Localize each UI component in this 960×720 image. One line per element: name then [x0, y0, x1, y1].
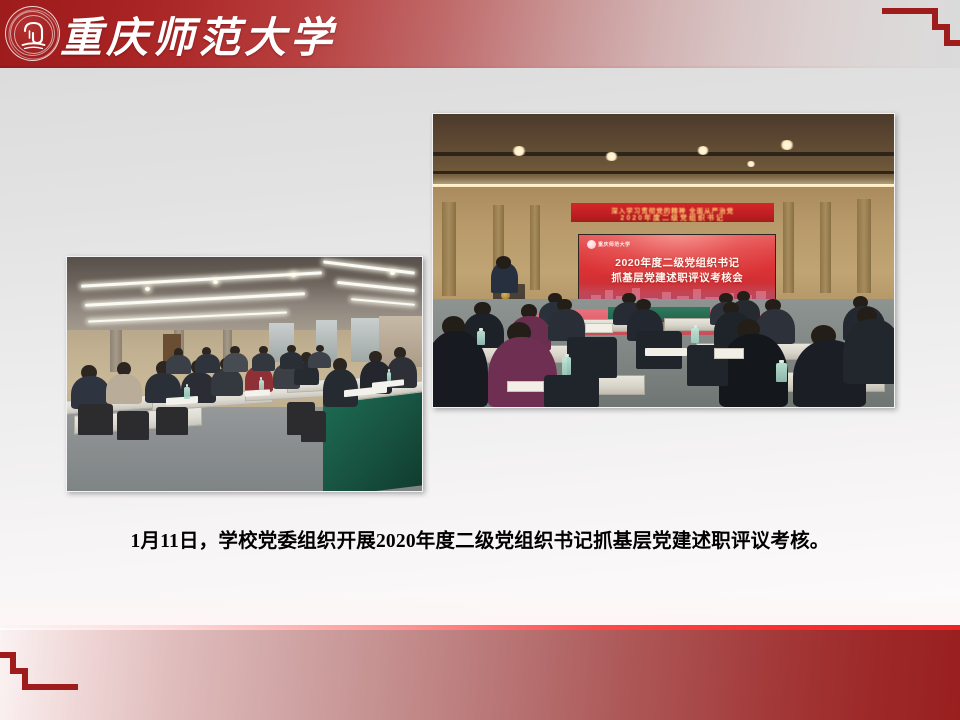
hall-banner-text-secondary: 2020年度二级党组织书记 [571, 213, 774, 222]
conference-hall-led-screen-photo: 深入学习贯彻党的精神 全面从严治党 2020年度二级党组织书记 重庆师范大学 2… [432, 113, 895, 408]
meeting-room-attendees-photo [66, 256, 423, 492]
slide-caption: 1月11日，学校党委组织开展2020年度二级党组织书记抓基层党建述职评议考核。 [0, 528, 960, 556]
university-wordmark: 重庆师范大学 [60, 4, 336, 64]
top-right-corner-decoration [880, 0, 960, 48]
slide-header-banner: 重庆师范大学 [0, 0, 960, 68]
slide-footer-banner [0, 630, 960, 720]
presentation-slide: 重庆师范大学 [0, 0, 960, 720]
footer-soft-glow [0, 595, 960, 625]
screen-university-logo-icon [587, 240, 596, 249]
university-seal-icon [5, 6, 60, 61]
screen-title-line-1: 2020年度二级党组织书记 [579, 255, 775, 270]
bottom-left-corner-decoration [0, 650, 80, 698]
screen-university-logo-text: 重庆师范大学 [598, 241, 630, 248]
